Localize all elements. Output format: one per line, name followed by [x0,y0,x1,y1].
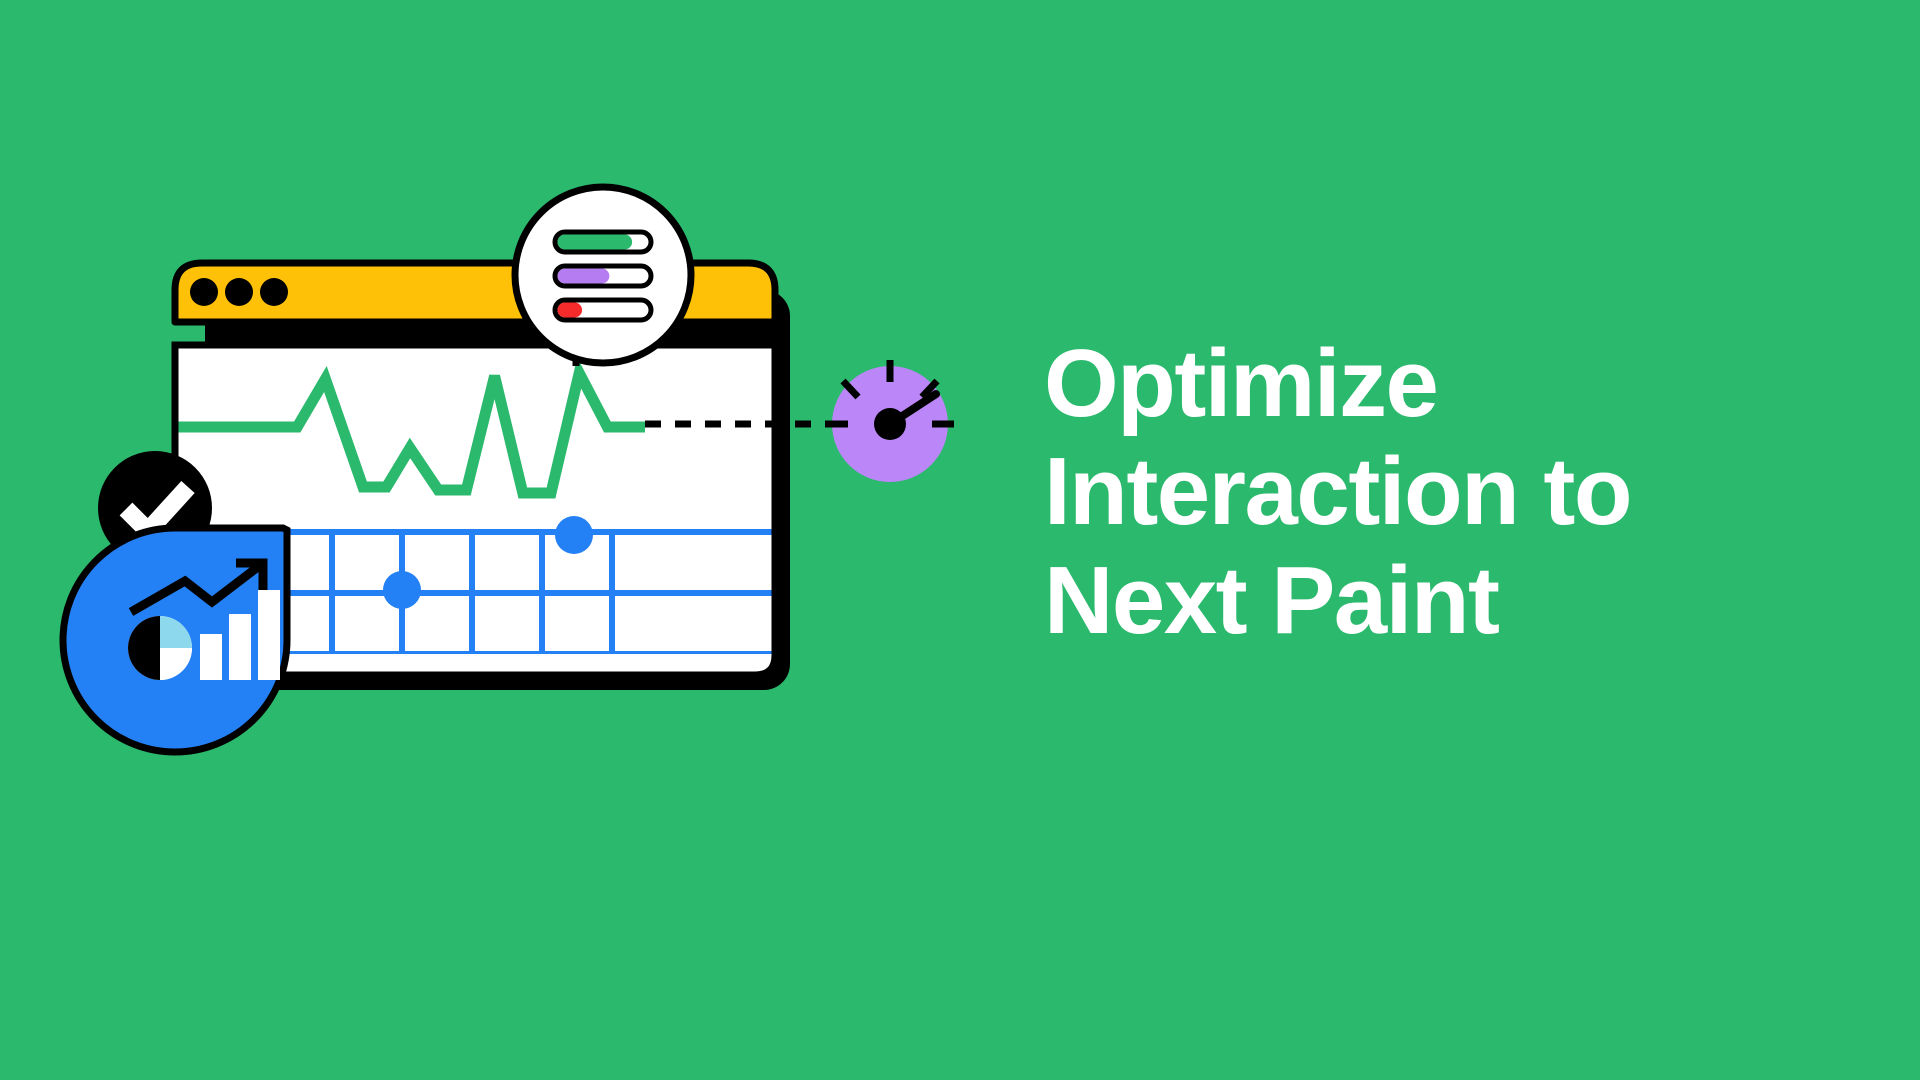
speed-gauge[interactable] [826,360,954,482]
poster-canvas: Optimize Interaction to Next Paint [0,0,1920,1080]
analytics-bar-3 [258,590,280,680]
window-dot-1[interactable] [190,278,218,306]
analytics-bar-2 [229,614,251,680]
progress-bubble[interactable] [515,187,691,363]
progress-bar-green [555,232,651,252]
grid-point-2[interactable] [383,571,421,609]
progress-bar-purple [555,266,651,286]
gauge-hub [874,408,906,440]
analytics-badge[interactable] [63,528,287,752]
page-title: Optimize Interaction to Next Paint [1044,330,1884,655]
progress-bar-red [555,300,651,320]
window-dot-3[interactable] [260,278,288,306]
window-dot-2[interactable] [225,278,253,306]
analytics-bar-1 [200,634,222,680]
grid-point-1[interactable] [555,516,593,554]
analytics-pie [128,616,192,680]
